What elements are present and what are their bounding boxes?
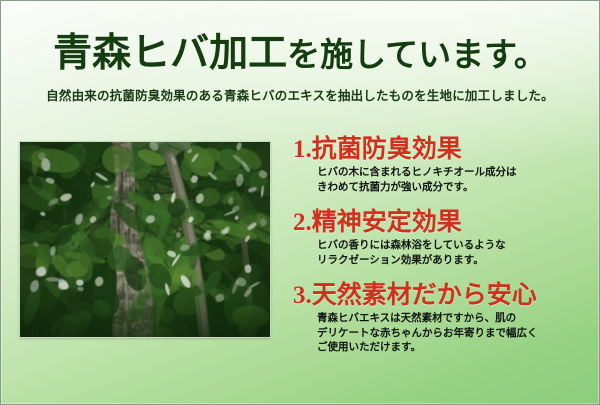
banner-header: 青森ヒバ加工を施しています。 自然由来の抗菌防臭効果のある青森ヒバのエキスを抽出… (1, 1, 599, 104)
feature-item-2: 2.精神安定効果 ヒバの香りには森林浴をしているような リラクゼーション効果があ… (293, 208, 593, 268)
feature-heading-3: 3.天然素材だから安心 (293, 281, 593, 310)
feature-body-1-line-2: きわめて抗菌力が強い成分です。 (317, 180, 593, 195)
feature-heading-1: 1.抗菌防臭効果 (293, 135, 593, 164)
feature-body-3: 青森ヒバエキスは天然素材ですから、肌の デリケートな赤ちゃんからお年寄りまで幅広… (293, 311, 593, 356)
forest-tree-photo-canvas (20, 142, 270, 337)
forest-tree-photo (19, 141, 271, 338)
page-title: 青森ヒバ加工を施しています。 (1, 1, 599, 75)
feature-body-1: ヒバの木に含まれるヒノキチオール成分は きわめて抗菌力が強い成分です。 (293, 165, 593, 195)
page-title-tail: を施しています。 (287, 38, 547, 74)
page-title-main: 青森ヒバ加工 (53, 32, 287, 75)
feature-body-1-line-1: ヒバの木に含まれるヒノキチオール成分は (317, 165, 593, 180)
feature-item-3: 3.天然素材だから安心 青森ヒバエキスは天然素材ですから、肌の デリケートな赤ち… (293, 281, 593, 356)
promo-banner: 青森ヒバ加工を施しています。 自然由来の抗菌防臭効果のある青森ヒバのエキスを抽出… (0, 0, 600, 405)
feature-list: 1.抗菌防臭効果 ヒバの木に含まれるヒノキチオール成分は きわめて抗菌力が強い成… (293, 135, 593, 361)
feature-body-3-line-3: ご使用いただけます。 (317, 340, 593, 355)
subtitle: 自然由来の抗菌防臭効果のある青森ヒバのエキスを抽出したものを生地に加工しました。 (1, 75, 599, 104)
feature-body-3-line-2: デリケートな赤ちゃんからお年寄りまで幅広く (317, 326, 593, 341)
feature-body-2-line-1: ヒバの香りには森林浴をしているような (317, 238, 593, 253)
feature-item-1: 1.抗菌防臭効果 ヒバの木に含まれるヒノキチオール成分は きわめて抗菌力が強い成… (293, 135, 593, 195)
feature-body-2-line-2: リラクゼーション効果があります。 (317, 253, 593, 268)
feature-body-2: ヒバの香りには森林浴をしているような リラクゼーション効果があります。 (293, 238, 593, 268)
feature-body-3-line-1: 青森ヒバエキスは天然素材ですから、肌の (317, 311, 593, 326)
feature-heading-2: 2.精神安定効果 (293, 208, 593, 237)
